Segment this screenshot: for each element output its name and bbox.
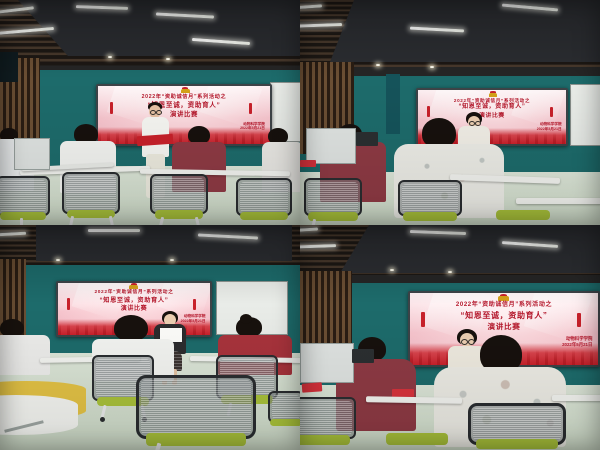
torso (0, 335, 50, 375)
chair (304, 178, 362, 225)
emblem-icon (489, 93, 497, 97)
chair-back (136, 375, 256, 439)
chair (62, 172, 120, 225)
screen-banner-text: 2022年“资助诚信月”系列活动之 “知恩至诚，资助育人” 演讲比赛 (63, 290, 206, 313)
ceiling-light (88, 229, 140, 232)
chair-mesh (473, 408, 561, 440)
chair-back (62, 172, 120, 214)
chair-back (236, 178, 292, 216)
chair-back (150, 174, 208, 214)
screen-credit: 动物科学学院 2022年5月21日 (537, 122, 562, 132)
chair (398, 180, 462, 225)
hair-bun (240, 314, 252, 324)
chair-seat (300, 435, 350, 445)
chair-mesh (0, 180, 46, 212)
monitor (356, 132, 378, 146)
chair (468, 403, 566, 450)
banner-line-2: “知恩至诚，资助育人” (63, 297, 206, 305)
credit-date: 2022年5月21日 (537, 127, 562, 132)
classroom-scene-4: 2022年“资助诚信月”系列活动之 “知恩至诚，资助育人” 演讲比赛 动物科学学… (300, 225, 600, 450)
panel-top-right: 2022年“资助诚信月”系列活动之 “知恩至诚，资助育人” 演讲比赛 动物科学学… (300, 0, 600, 225)
wall-shadow (0, 52, 18, 82)
panel-bottom-left: 2022年“资助诚信月”系列活动之 “知恩至诚，资助育人” 演讲比赛 动物科学学… (0, 225, 300, 450)
chair-mesh (141, 380, 251, 434)
chair-foreground (136, 375, 256, 450)
desk (516, 198, 600, 204)
chair-seat (476, 439, 558, 449)
chair (236, 178, 292, 225)
chair-seat (403, 212, 457, 221)
chair-back (0, 176, 50, 216)
emblem-icon (498, 296, 509, 301)
chair (268, 391, 300, 431)
chair-seat (386, 433, 448, 445)
chair-seat (67, 210, 115, 218)
glasses-icon (156, 110, 162, 115)
ceiling-downlight (170, 259, 174, 261)
ceiling-downlight (430, 66, 434, 68)
banner-line-1: 2022年“资助诚信月”系列活动之 (103, 94, 265, 101)
panel-bottom-right: 2022年“资助诚信月”系列活动之 “知恩至诚，资助育人” 演讲比赛 动物科学学… (300, 225, 600, 450)
chair-mesh (402, 184, 458, 212)
chair-back (300, 397, 356, 439)
chair (0, 176, 50, 225)
chair-mesh (240, 182, 288, 212)
banner-line-3: 演讲比赛 (103, 111, 265, 119)
cabinet (14, 138, 50, 170)
screen-credit: 动物科学学院 2022年5月21日 (562, 336, 592, 348)
chair (300, 397, 356, 450)
ceiling-downlight (166, 58, 170, 60)
chair-seat (496, 210, 550, 220)
chair-mesh (272, 395, 300, 419)
banner-line-1: 2022年“资助诚信月”系列活动之 (63, 290, 206, 296)
photo-collage: 2022年“资助诚信月”系列活动之 “知恩至诚，资助育人” 演讲比赛 动物科学学… (0, 0, 600, 450)
cabinet (300, 343, 354, 383)
monitor (352, 349, 374, 363)
chair-back (398, 180, 462, 216)
ceiling-downlight (108, 56, 112, 58)
hair (114, 315, 148, 341)
ceiling-downlight (448, 271, 452, 273)
name-card (302, 382, 323, 392)
banner-line-3: 演讲比赛 (416, 322, 593, 331)
chair-mesh (308, 182, 358, 212)
ceiling-downlight (376, 64, 380, 66)
desk (552, 395, 600, 401)
chair-mesh (154, 178, 204, 210)
ceiling (0, 0, 300, 78)
classroom-scene-1: 2022年“资助诚信月”系列活动之 “知恩至诚，资助育人” 演讲比赛 动物科学学… (0, 0, 300, 225)
classroom-scene-2: 2022年“资助诚信月”系列活动之 “知恩至诚，资助育人” 演讲比赛 动物科学学… (300, 0, 600, 225)
classroom-scene-3: 2022年“资助诚信月”系列活动之 “知恩至诚，资助育人” 演讲比赛 动物科学学… (0, 225, 300, 450)
chair-back (304, 178, 362, 216)
chair-leg (20, 218, 23, 225)
ceiling-panel (340, 225, 600, 273)
ceiling-panel (330, 0, 600, 62)
banner-line-2: “知恩至诚，资助育人” (422, 104, 561, 112)
credit-org: 动物科学学院 (562, 336, 592, 342)
cabinet (306, 128, 356, 164)
whiteboard (570, 84, 600, 146)
banner-line-1: 2022年“资助诚信月”系列活动之 (422, 98, 561, 104)
screen-banner-text: 2022年“资助诚信月”系列活动之 “知恩至诚，资助育人” 演讲比赛 (416, 302, 593, 331)
emblem-icon (129, 285, 138, 289)
ceiling-panel (36, 225, 292, 261)
chair-seat (270, 419, 300, 426)
panel-top-left: 2022年“资助诚信月”系列活动之 “知恩至诚，资助育人” 演讲比赛 动物科学学… (0, 0, 300, 225)
chair (150, 174, 208, 225)
banner-line-1: 2022年“资助诚信月”系列活动之 (416, 302, 593, 310)
banner-line-2: “知恩至诚，资助育人” (416, 311, 593, 321)
chair-seat (0, 212, 46, 220)
ceiling-downlight (390, 269, 394, 271)
screen-banner-text: 2022年“资助诚信月”系列活动之 “知恩至诚，资助育人” 演讲比赛 (103, 94, 265, 119)
banner-line-2: “知恩至诚，资助育人” (103, 102, 265, 110)
chair-mesh (300, 401, 352, 435)
name-card (300, 160, 316, 167)
chair (386, 429, 448, 450)
chair-mesh (66, 176, 116, 210)
ceiling-downlight (56, 259, 60, 261)
chair (496, 206, 550, 225)
credit-date: 2022年5月21日 (562, 342, 592, 348)
chair-caster (100, 417, 105, 422)
chair-seat (240, 212, 288, 220)
screen-banner-text: 2022年“资助诚信月”系列活动之 “知恩至诚，资助育人” 演讲比赛 (422, 98, 561, 120)
emblem-icon (181, 89, 190, 93)
